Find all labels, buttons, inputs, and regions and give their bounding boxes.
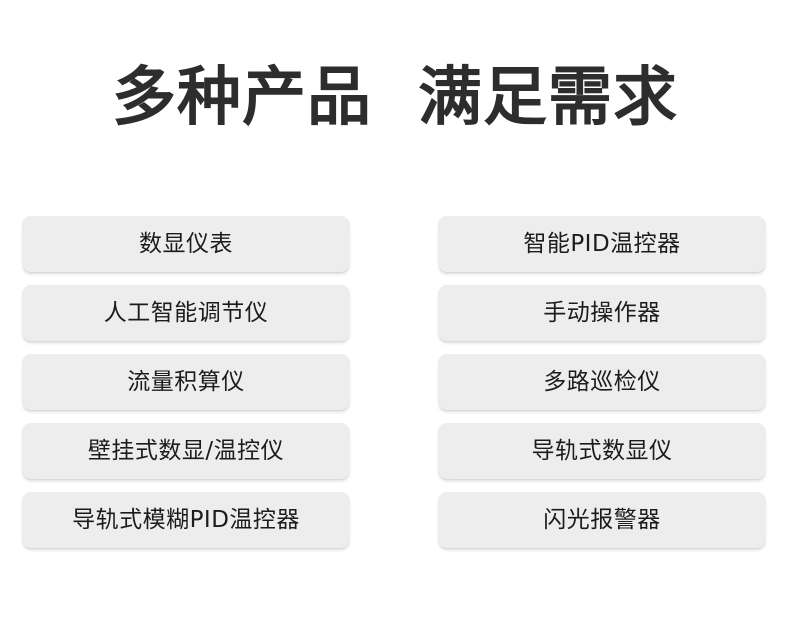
product-column-right: 智能PID温控器 手动操作器 多路巡检仪 导轨式数显仪 闪光报警器 [438, 216, 766, 548]
product-item-label: 导轨式数显仪 [532, 437, 673, 465]
product-item-shuxian-yibiao[interactable]: 数显仪表 [22, 216, 350, 272]
page-title-segment-2: 满足需求 [418, 58, 678, 138]
product-item-daoguishi-mohu-pid-wenkongqi[interactable]: 导轨式模糊PID温控器 [22, 492, 350, 548]
product-item-rengong-zhineng-tiaojieyi[interactable]: 人工智能调节仪 [22, 285, 350, 341]
product-columns: 数显仪表 人工智能调节仪 流量积算仪 壁挂式数显/温控仪 导轨式模糊PID温控器… [22, 216, 766, 548]
product-item-shoudong-caozuoqi[interactable]: 手动操作器 [438, 285, 766, 341]
product-item-zhineng-pid-wenkongqi[interactable]: 智能PID温控器 [438, 216, 766, 272]
product-item-biguashi-shuxian-wenkongyi[interactable]: 壁挂式数显/温控仪 [22, 423, 350, 479]
product-catalog-banner: 多种产品满足需求 数显仪表 人工智能调节仪 流量积算仪 壁挂式数显/温控仪 导轨… [0, 0, 790, 626]
product-item-label: 流量积算仪 [127, 368, 245, 396]
product-item-label: 导轨式模糊PID温控器 [72, 506, 300, 534]
product-item-shanguang-baojingqi[interactable]: 闪光报警器 [438, 492, 766, 548]
product-item-label: 壁挂式数显/温控仪 [88, 437, 284, 465]
product-item-label: 智能PID温控器 [523, 230, 680, 258]
page-title-segment-1: 多种产品 [112, 58, 372, 138]
product-column-left: 数显仪表 人工智能调节仪 流量积算仪 壁挂式数显/温控仪 导轨式模糊PID温控器 [22, 216, 350, 548]
product-item-label: 多路巡检仪 [543, 368, 661, 396]
product-item-liuliang-jisuanyi[interactable]: 流量积算仪 [22, 354, 350, 410]
product-item-label: 手动操作器 [543, 299, 661, 327]
product-item-daoguishi-shuxianyi[interactable]: 导轨式数显仪 [438, 423, 766, 479]
product-item-duolu-xunjianyi[interactable]: 多路巡检仪 [438, 354, 766, 410]
product-item-label: 闪光报警器 [543, 506, 661, 534]
page-title: 多种产品满足需求 [0, 58, 790, 138]
product-item-label: 数显仪表 [139, 230, 233, 258]
product-item-label: 人工智能调节仪 [104, 299, 269, 327]
